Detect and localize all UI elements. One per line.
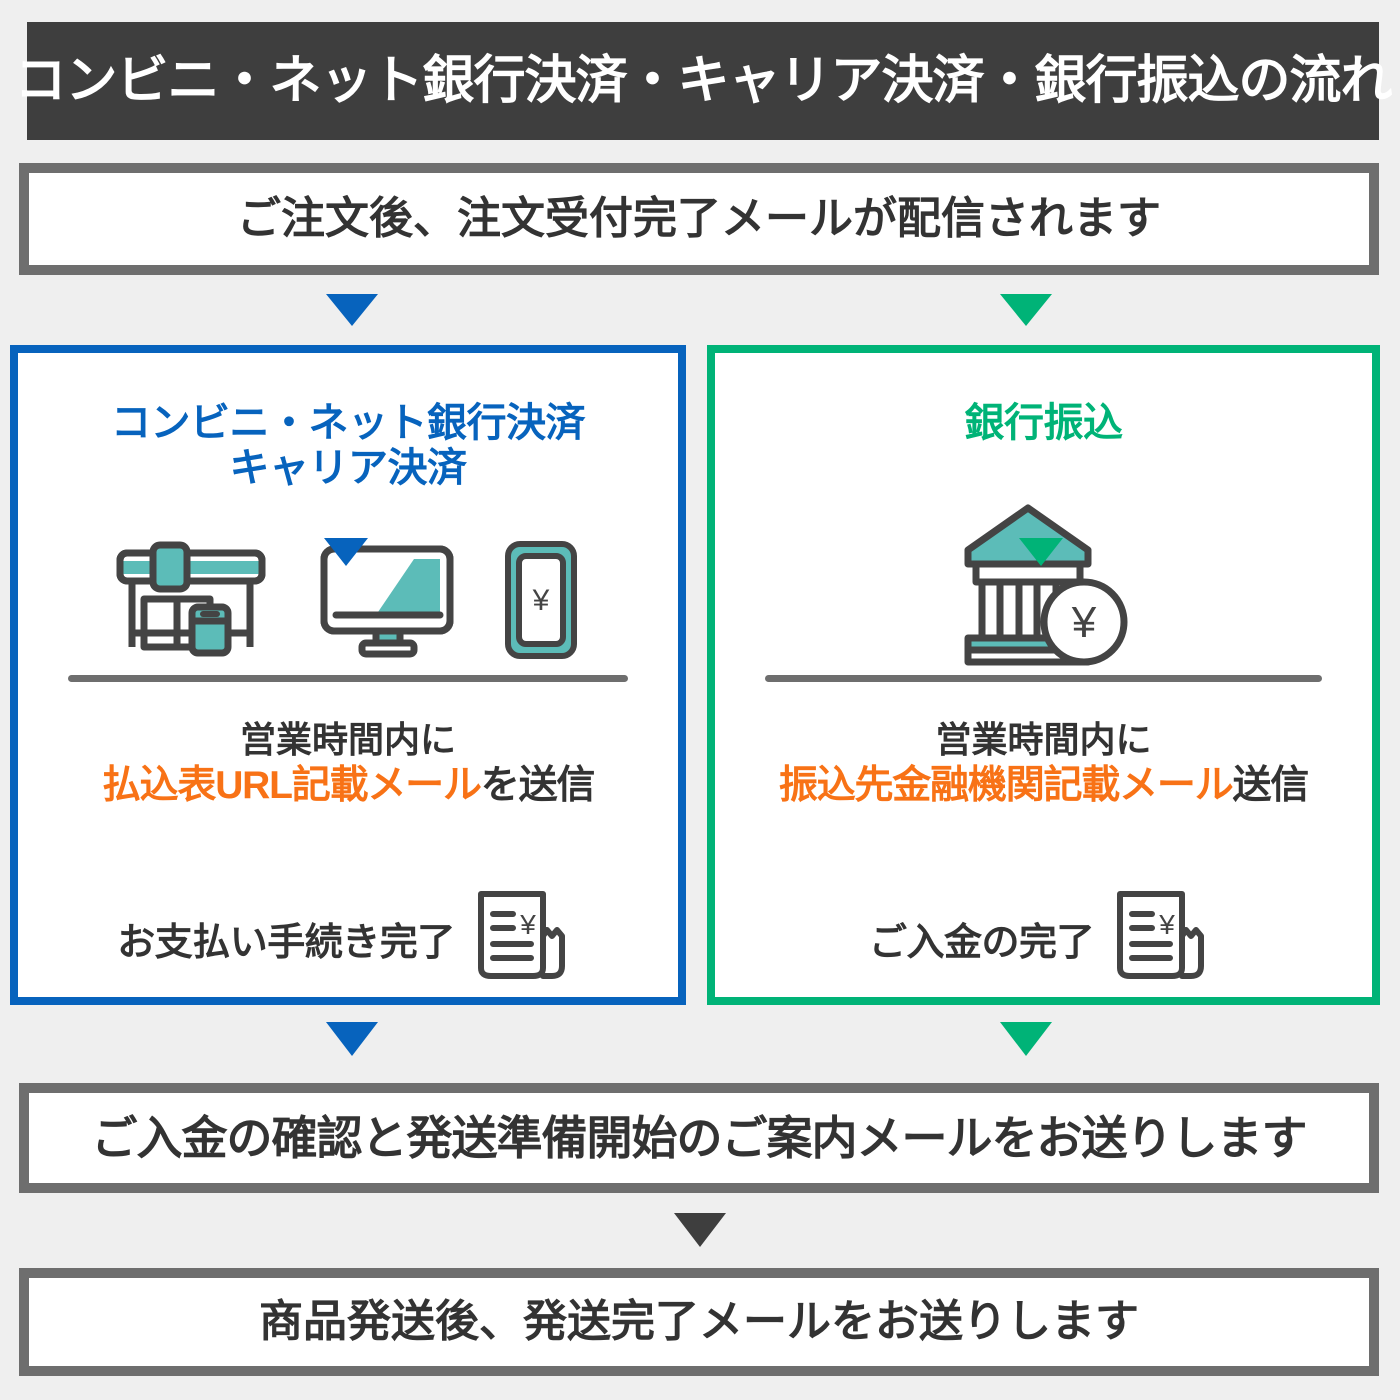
panel-furikomi-divider	[765, 675, 1322, 682]
flow-diagram: コンビニ・ネット銀行決済・キャリア決済・銀行振込の流れ ご注文後、注文受付完了メ…	[0, 0, 1400, 1400]
panel-konbini-title: コンビニ・ネット銀行決済 キャリア決済	[18, 401, 678, 491]
panel-furikomi-note-line1: 営業時間内に	[715, 718, 1372, 762]
convenience-store-icon	[114, 541, 274, 666]
panel-furikomi: 銀行振込 ¥	[707, 345, 1380, 1005]
step-box-shipped: 商品発送後、発送完了メールをお送りします	[19, 1268, 1379, 1376]
panel-furikomi-note-suffix: 送信	[1233, 764, 1309, 807]
arrow-furikomi-to-confirm-icon	[1000, 1022, 1052, 1056]
panel-konbini-result-label: お支払い手続き完了	[117, 911, 455, 966]
svg-text:¥: ¥	[1158, 909, 1175, 940]
panel-furikomi-result-label: ご入金の完了	[869, 911, 1094, 966]
panel-konbini-note-line1: 営業時間内に	[18, 718, 678, 762]
panel-konbini-result: お支払い手続き完了 ¥	[18, 888, 678, 988]
svg-text:¥: ¥	[519, 909, 536, 940]
panel-furikomi-note-highlight: 振込先金融機関記載メール	[779, 764, 1233, 807]
panel-furikomi-note: 営業時間内に 振込先金融機関記載メール送信	[715, 718, 1372, 809]
arrow-to-konbini-icon	[326, 294, 378, 326]
step-box-payment-confirmed: ご入金の確認と発送準備開始のご案内メールをお送りします	[19, 1083, 1379, 1193]
arrow-konbini-internal-icon	[324, 538, 368, 566]
page-title: コンビニ・ネット銀行決済・キャリア決済・銀行振込の流れ	[15, 55, 1392, 107]
panel-furikomi-result: ご入金の完了 ¥	[715, 888, 1372, 988]
svg-text:¥: ¥	[1070, 598, 1096, 647]
panel-furikomi-note-line2: 振込先金融機関記載メール送信	[715, 762, 1372, 810]
arrow-to-furikomi-icon	[1000, 294, 1052, 326]
panel-konbini-note-highlight: 払込表URL記載メール	[102, 764, 481, 807]
step-box-order-email: ご注文後、注文受付完了メールが配信されます	[19, 163, 1379, 275]
bank-yen-icon: ¥	[954, 498, 1134, 673]
panel-konbini-note-line2: 払込表URL記載メールを送信	[18, 762, 678, 810]
svg-text:¥: ¥	[532, 584, 550, 617]
receipt-yen-icon: ¥	[469, 888, 579, 989]
smartphone-yen-icon: ¥	[502, 538, 582, 668]
arrow-konbini-to-confirm-icon	[326, 1022, 378, 1056]
panel-konbini-note: 営業時間内に 払込表URL記載メールを送信	[18, 718, 678, 809]
step-shipped-label: 商品発送後、発送完了メールをお送りします	[259, 1300, 1139, 1344]
panel-furikomi-icon-row: ¥	[715, 495, 1372, 675]
panel-konbini-title-line1: コンビニ・ネット銀行決済	[111, 401, 585, 445]
panel-konbini: コンビニ・ネット銀行決済 キャリア決済	[10, 345, 686, 1005]
panel-furikomi-title-line1: 銀行振込	[965, 401, 1123, 445]
panel-konbini-note-suffix: を送信	[481, 764, 594, 807]
step-order-email-label: ご注文後、注文受付完了メールが配信されます	[237, 197, 1161, 241]
arrow-furikomi-internal-icon	[1019, 538, 1063, 566]
arrow-confirm-to-shipped-icon	[674, 1213, 726, 1247]
panel-konbini-divider	[68, 675, 628, 682]
panel-konbini-title-line2: キャリア決済	[230, 446, 467, 490]
step-payment-confirmed-label: ご入金の確認と発送準備開始のご案内メールをお送りします	[92, 1115, 1307, 1161]
receipt-yen-icon: ¥	[1108, 888, 1218, 989]
panel-furikomi-title: 銀行振込	[715, 401, 1372, 446]
header-banner: コンビニ・ネット銀行決済・キャリア決済・銀行振込の流れ	[27, 22, 1379, 140]
